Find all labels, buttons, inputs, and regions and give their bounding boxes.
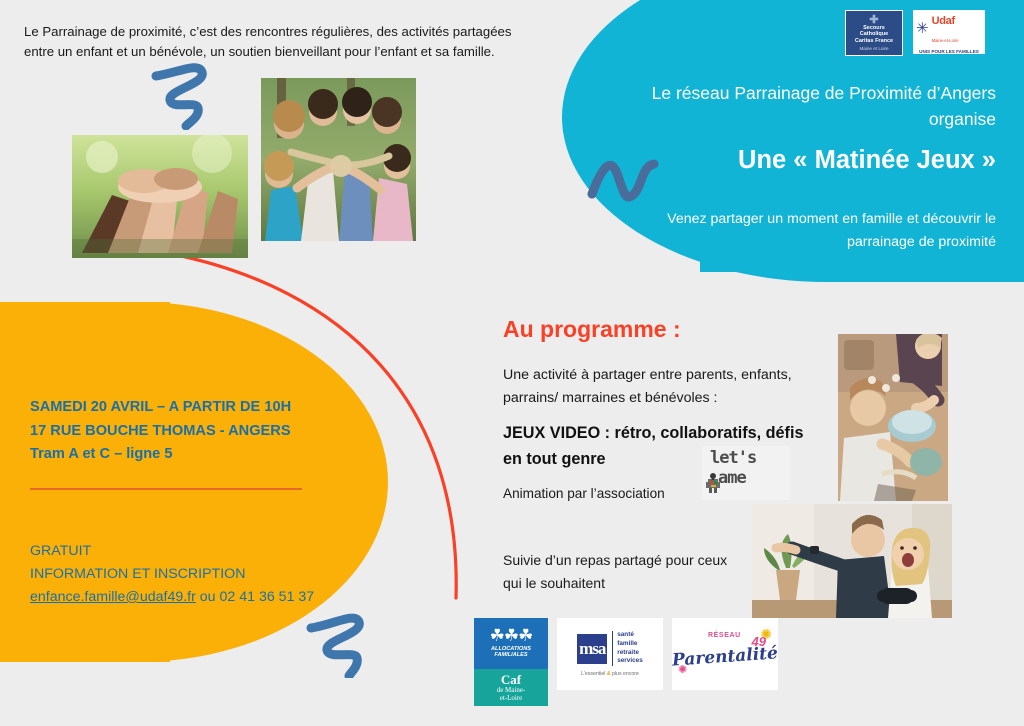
partner-logos-top: ✚ Secours Catholique Caritas France Main… bbox=[845, 10, 985, 56]
event-address: 17 RUE BOUCHE THOMAS - ANGERS bbox=[30, 420, 360, 444]
logo-udaf-sub: Maine-et-Loire bbox=[932, 38, 959, 43]
event-contact-block: GRATUIT INFORMATION ET INSCRIPTION enfan… bbox=[30, 540, 370, 609]
or-word: ou bbox=[196, 589, 220, 605]
programme-animation: Animation par l’association bbox=[503, 486, 713, 501]
contact-phone: 02 41 36 51 37 bbox=[220, 589, 315, 605]
poster-title: Une « Matinée Jeux » bbox=[600, 146, 996, 175]
msa-slogan-a: L’essentiel bbox=[581, 671, 607, 677]
caf-dep2: et-Loire bbox=[500, 694, 523, 702]
lets-game-line1: let's bbox=[710, 448, 756, 468]
info-label: INFORMATION ET INSCRIPTION bbox=[30, 563, 370, 586]
blue-squiggle-icon bbox=[305, 608, 393, 678]
photo-children-rope bbox=[261, 78, 416, 241]
logo-sc-line4: Maine et Loire bbox=[859, 46, 888, 51]
orange-divider bbox=[30, 488, 302, 490]
organizer-line: Le réseau Parrainage de Proximité d’Ange… bbox=[600, 80, 996, 133]
event-details-block: SAMEDI 20 AVRIL – A PARTIR DE 10H 17 RUE… bbox=[30, 396, 360, 467]
parentalite-reseau-label: RÉSEAU bbox=[708, 632, 741, 639]
poster-canvas: Le Parrainage de proximité, c’est des re… bbox=[0, 0, 1024, 726]
logo-sc-line3: Caritas France bbox=[855, 38, 893, 44]
logo-msa: msa santé famille retraite services L’es… bbox=[557, 618, 663, 690]
msa-word1: santé bbox=[617, 631, 643, 640]
logo-reseau-parentalite-49: ✺ ✺ RÉSEAU Parentalité 49 bbox=[672, 618, 778, 690]
poster-subtitle: Venez partager un moment en famille et d… bbox=[620, 208, 996, 254]
intro-paragraph: Le Parrainage de proximité, c’est des re… bbox=[24, 22, 544, 63]
logo-udaf-title: Udaf bbox=[932, 15, 955, 27]
msa-word2: famille bbox=[617, 640, 643, 649]
logo-lets-game: let's ame bbox=[702, 446, 790, 500]
caf-brand: Caf bbox=[501, 673, 521, 686]
logo-udaf-tagline: UNIS POUR LES FAMILLES bbox=[916, 49, 982, 54]
programme-title: Au programme : bbox=[503, 316, 681, 343]
msa-mark: msa bbox=[577, 634, 607, 664]
event-date: SAMEDI 20 AVRIL – A PARTIR DE 10H bbox=[30, 396, 360, 420]
programme-meal: Suivie d’un repas partagé pour ceux qui … bbox=[503, 549, 743, 594]
caf-line2: FAMILIALES bbox=[494, 652, 527, 658]
event-transport: Tram A et C – ligne 5 bbox=[30, 443, 360, 467]
logo-udaf: ✳ Udaf Maine-et-Loire UNIS POUR LES FAMI… bbox=[913, 10, 985, 54]
lets-game-line2: ame bbox=[718, 468, 746, 488]
photo-father-daughter-gaming bbox=[752, 504, 952, 618]
caf-dep1: de Maine- bbox=[497, 686, 526, 694]
programme-intro: Une activité à partager entre parents, e… bbox=[503, 364, 838, 410]
blue-squiggle-icon bbox=[150, 60, 230, 130]
free-label: GRATUIT bbox=[30, 540, 370, 563]
logo-caf: ☘☘☘ ALLOCATIONS FAMILIALES Caf de Maine-… bbox=[474, 618, 548, 706]
photo-family-baking bbox=[838, 334, 948, 501]
caf-people-icon: ☘☘☘ bbox=[490, 628, 533, 643]
partner-logos-bottom: ☘☘☘ ALLOCATIONS FAMILIALES Caf de Maine-… bbox=[474, 618, 778, 706]
caf-line1: ALLOCATIONS bbox=[491, 646, 531, 652]
cross-icon: ✚ bbox=[869, 15, 878, 25]
msa-word4: services bbox=[617, 657, 643, 666]
contact-email-link[interactable]: enfance.famille@udaf49.fr bbox=[30, 589, 196, 605]
logo-secours-catholique: ✚ Secours Catholique Caritas France Main… bbox=[845, 10, 903, 56]
game-robot-icon bbox=[704, 472, 722, 494]
msa-word3: retraite bbox=[617, 649, 643, 658]
parentalite-number: 49 bbox=[752, 634, 766, 649]
photo-hands-together bbox=[72, 135, 248, 258]
msa-slogan-c: plus encore bbox=[611, 671, 639, 677]
udaf-star-icon: ✳ bbox=[916, 22, 929, 35]
